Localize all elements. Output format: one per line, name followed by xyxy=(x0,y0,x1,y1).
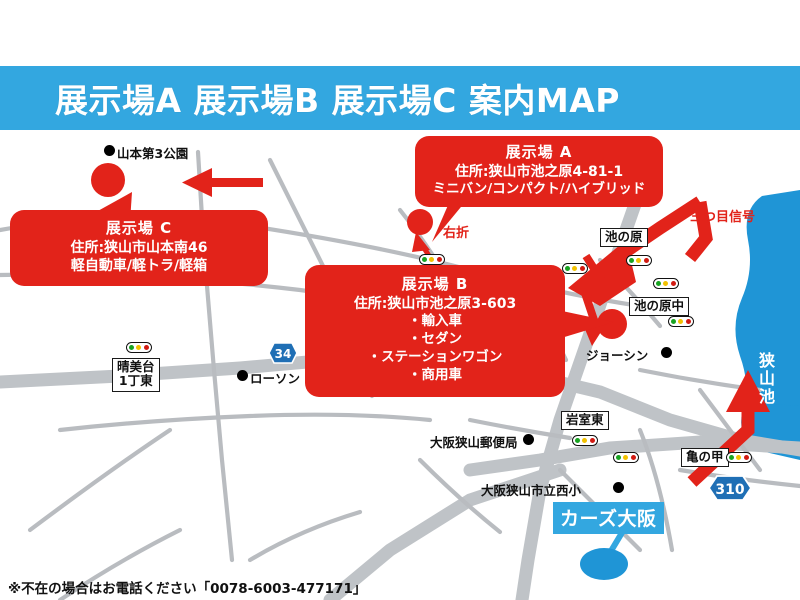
dot-joshin xyxy=(661,347,672,358)
label-lawson: ローソン xyxy=(250,368,300,387)
signal-yellow xyxy=(429,257,434,262)
signal-green xyxy=(616,455,621,460)
signal-red xyxy=(744,455,749,460)
signal-green xyxy=(671,319,676,324)
callout-b-item-0: ・輸入車 xyxy=(311,313,559,331)
signal-red xyxy=(144,345,149,350)
signal-green xyxy=(629,258,634,263)
signal-red xyxy=(686,319,691,324)
dot-yamamoto-park xyxy=(104,145,115,156)
callout-c-vehicles: 軽自動車/軽トラ/軽箱 xyxy=(16,257,262,275)
signal-yellow xyxy=(582,438,587,443)
callout-a-vehicles: ミニバン/コンパクト/ハイブリッド xyxy=(421,181,657,199)
dealer-label-cars-osaka[interactable]: カーズ大阪 xyxy=(553,502,664,534)
label-ikenoharanaka: 池の原中 xyxy=(629,297,689,316)
street-06 xyxy=(30,430,170,530)
footer-line-1: ※不在の場合はお電話ください「0078-6003-477171」 xyxy=(8,580,408,600)
traffic-signal-harumidai xyxy=(126,342,152,353)
callout-showroom-a: 展示場 A 住所:狭山市池之原4-81-1 ミニバン/コンパクト/ハイブリッド xyxy=(415,136,663,207)
label-yamamoto-park: 山本第3公園 xyxy=(117,143,188,162)
street-05 xyxy=(60,415,430,430)
marker-showroom-a xyxy=(407,209,433,235)
signal-green xyxy=(575,438,580,443)
map-flyer: 展示場A 展示場B 展示場C 案内MAP xyxy=(0,0,800,600)
signal-yellow xyxy=(736,455,741,460)
note-turn-right: 右折 xyxy=(443,222,469,241)
signal-red xyxy=(644,258,649,263)
note-third-signal: 三つ目信号 xyxy=(690,206,755,225)
callout-showroom-b: 展示場 B 住所:狭山市池之原3-603 ・輸入車 ・セダン ・ステーションワゴ… xyxy=(305,265,565,397)
traffic-signal-ikenoharanaka-south xyxy=(668,316,694,327)
dealer-marker xyxy=(580,548,628,580)
page-title: 展示場A 展示場B 展示場C 案内MAP xyxy=(55,74,620,122)
signal-green xyxy=(129,345,134,350)
header-banner: 展示場A 展示場B 展示場C 案内MAP xyxy=(0,66,800,130)
callout-b-title: 展示場 B xyxy=(311,275,559,295)
traffic-signal-mid xyxy=(613,452,639,463)
signal-red xyxy=(671,281,676,286)
traffic-signal-ikenohara xyxy=(626,255,652,266)
traffic-signal-iwamurohigashi xyxy=(572,435,598,446)
route-arrow-west xyxy=(182,168,263,197)
callout-b-item-1: ・セダン xyxy=(311,331,559,349)
label-ikenohara: 池の原 xyxy=(600,228,648,247)
signal-green xyxy=(565,266,570,271)
route-310-shield: 310 xyxy=(708,475,752,501)
signal-green xyxy=(656,281,661,286)
dot-nishi-elementary xyxy=(613,482,624,493)
traffic-signal-ikenoharanaka-north xyxy=(653,278,679,289)
signal-yellow xyxy=(636,258,641,263)
label-kamenoko: 亀の甲 xyxy=(681,448,729,467)
signal-yellow xyxy=(136,345,141,350)
signal-yellow xyxy=(678,319,683,324)
callout-c-address: 住所:狭山市山本南46 xyxy=(16,239,262,257)
signal-red xyxy=(631,455,636,460)
dot-lawson xyxy=(237,370,248,381)
label-joshin: ジョーシン xyxy=(586,345,648,364)
traffic-signal-turnright xyxy=(419,254,445,265)
traffic-signal-west-ikenohara xyxy=(562,263,588,274)
label-harumidai-line2: 1丁東 xyxy=(117,374,155,388)
label-harumidai: 晴美台 1丁東 xyxy=(112,358,160,392)
dot-post-office xyxy=(523,434,534,445)
label-nishi-elementary: 大阪狭山市立西小 xyxy=(481,480,581,499)
label-iwamurohigashi: 岩室東 xyxy=(561,411,609,430)
route-34-shield: 34 xyxy=(268,342,298,364)
callout-b-item-3: ・商用車 xyxy=(311,367,559,385)
callout-b-address: 住所:狭山市池之原3-603 xyxy=(311,295,559,313)
callout-b-item-2: ・ステーションワゴン xyxy=(311,349,559,367)
map-canvas: 展示場 C 住所:狭山市山本南46 軽自動車/軽トラ/軽箱 展示場 A 住所:狭… xyxy=(0,130,800,600)
signal-red xyxy=(437,257,442,262)
signal-yellow xyxy=(663,281,668,286)
label-post-office: 大阪狭山郵便局 xyxy=(430,432,518,451)
callout-a-address: 住所:狭山市池之原4-81-1 xyxy=(421,163,657,181)
label-harumidai-line1: 晴美台 xyxy=(117,360,155,374)
route-34-number: 34 xyxy=(275,347,292,361)
callout-a-title: 展示場 A xyxy=(421,143,657,163)
street-18 xyxy=(250,512,360,560)
callout-showroom-c: 展示場 C 住所:狭山市山本南46 軽自動車/軽トラ/軽箱 xyxy=(10,210,268,286)
callout-c-title: 展示場 C xyxy=(16,219,262,239)
signal-green xyxy=(729,455,734,460)
signal-green xyxy=(422,257,427,262)
label-sayamaike: 狭山池 xyxy=(757,352,773,406)
signal-red xyxy=(590,438,595,443)
footer-notes: ※不在の場合はお電話ください「0078-6003-477171」 すぐにスタッフ… xyxy=(8,580,408,600)
signal-yellow xyxy=(623,455,628,460)
route-310-number: 310 xyxy=(715,482,744,498)
marker-showroom-c xyxy=(91,163,125,197)
signal-red xyxy=(580,266,585,271)
signal-yellow xyxy=(572,266,577,271)
traffic-signal-kamenoko xyxy=(726,452,752,463)
